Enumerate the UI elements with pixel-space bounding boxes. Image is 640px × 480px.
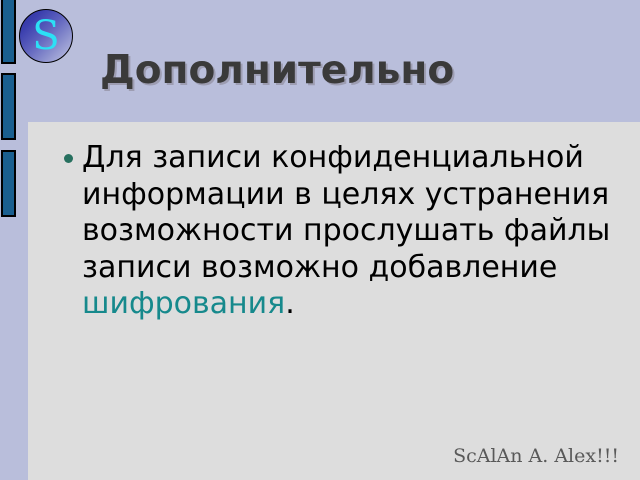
- presentation-slide: S Дополнительно Для записи конфиденциаль…: [0, 0, 640, 480]
- bullet-text-part-3: .: [285, 286, 295, 321]
- content-panel: Для записи конфиденциальной информации в…: [28, 122, 640, 480]
- s-logo-badge-icon: S: [19, 9, 73, 63]
- decorative-bar-3: [1, 150, 16, 217]
- bullet-dot-icon: [64, 154, 73, 163]
- bullet-list: Для записи конфиденциальной информации в…: [28, 140, 640, 323]
- decorative-bar-2: [1, 73, 16, 140]
- decorative-bar-1: [1, 0, 16, 64]
- bullet-text-part-1: Для записи конфиденциальной информации в…: [82, 140, 610, 285]
- bullet-text: Для записи конфиденциальной информации в…: [82, 140, 610, 321]
- logo-letter: S: [20, 16, 72, 56]
- bullet-text-highlight: шифрования: [82, 286, 285, 321]
- footer-credit: ScAlAn A. Alex!!!: [453, 445, 619, 467]
- list-item: Для записи конфиденциальной информации в…: [28, 140, 640, 323]
- slide-title: Дополнительно: [100, 48, 600, 94]
